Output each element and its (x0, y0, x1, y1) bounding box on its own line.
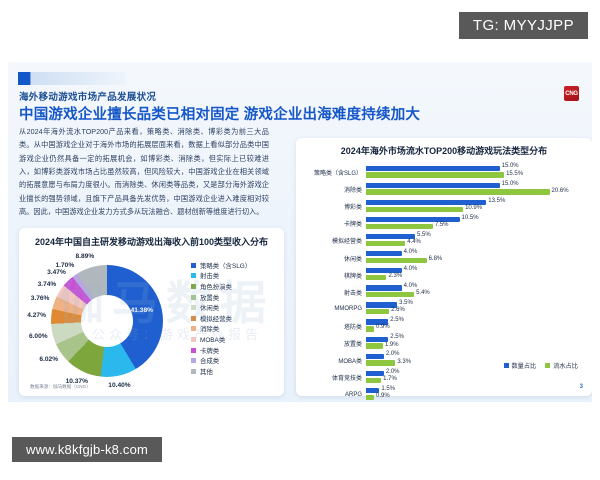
bar-segment-revenue (366, 360, 395, 365)
bar-value-label: 2.0% (386, 369, 400, 375)
cng-logo: CNG (564, 86, 579, 101)
bar-segment-revenue (366, 326, 374, 331)
pie-legend-label: 射击类 (200, 271, 219, 280)
pie-legend-item[interactable]: 卡牌类 (191, 345, 251, 356)
bar-value-label: 5.4% (416, 290, 430, 296)
bar-category-label: 博彩类 (302, 202, 366, 211)
bar-value-label: 4.0% (404, 249, 418, 255)
pie-legend-item[interactable]: 射击类 (191, 271, 251, 282)
bar-category-label: 棋牌类 (302, 271, 366, 280)
bar-value-label: 20.6% (552, 188, 569, 194)
pie-legend-label: 消除类 (200, 324, 219, 333)
bar-value-label: 10.5% (462, 215, 479, 221)
bar-segment-revenue (366, 378, 381, 383)
tg-watermark-badge: TG: MYYJJPP (459, 12, 588, 39)
bar-value-label: 2.5% (390, 317, 404, 323)
bar-segment-count (366, 371, 384, 376)
pie-slice-label: 1.70% (56, 262, 75, 269)
bar-value-label: 15.0% (502, 181, 519, 187)
bar-pair: 4.0%2.3% (366, 267, 586, 284)
pie-legend-item[interactable]: 休闲类 (191, 302, 251, 313)
pie-legend-item[interactable]: 消除类 (191, 324, 251, 335)
bar-row: 棋牌类4.0%2.3% (302, 267, 586, 284)
accent-bar (18, 72, 126, 85)
bar-row: 策略类（含SLG）15.0%15.5% (302, 164, 586, 181)
bar-pair: 2.5%0.9% (366, 318, 586, 335)
bar-category-label: 射击类 (302, 288, 366, 297)
legend-swatch-icon (191, 305, 196, 310)
pie-chart-card: 2024年中国自主研发移动游戏出海收入前100类型收入分布 41.38%10.4… (19, 228, 284, 396)
bar-value-label: 10.9% (465, 205, 482, 211)
pie-legend-item[interactable]: 角色扮演类 (191, 281, 251, 292)
bar-value-label: 13.5% (488, 198, 505, 204)
slide-eyebrow: 海外移动游戏市场产品发展状况 (19, 89, 156, 103)
legend-swatch-icon (191, 369, 196, 374)
bar-legend-item[interactable]: 流水占比 (545, 361, 578, 370)
bar-value-label: 2.3% (388, 273, 402, 279)
bar-chart-card: 2024年海外市场流水TOP200移动游戏玩法类型分布 策略类（含SLG）15.… (296, 138, 592, 396)
bar-category-label: ARPG (302, 392, 366, 398)
bar-segment-count (366, 183, 500, 188)
pie-legend: 策略类（含SLG）射击类角色扮演类放置类休闲类模拟经营类消除类MOBA类卡牌类合… (191, 260, 251, 377)
bar-segment-revenue (366, 241, 405, 246)
pie-legend-label: 休闲类 (200, 303, 219, 312)
bar-value-label: 7.5% (435, 222, 449, 228)
bar-segment-count (366, 251, 402, 256)
pie-slice-label: 8.89% (76, 253, 95, 260)
bar-value-label: 4.4% (407, 239, 421, 245)
legend-swatch-icon (191, 337, 196, 342)
bar-pair: 2.5%1.9% (366, 335, 586, 352)
bar-category-label: MOBA类 (302, 356, 366, 365)
pie-legend-item[interactable]: 模拟经营类 (191, 313, 251, 324)
bar-legend-item[interactable]: 数量占比 (504, 361, 537, 370)
bar-segment-revenue (366, 172, 504, 177)
body-paragraph: 从2024年海外流水TOP200产品来看，策略类、消除类、博彩类为前三大品类。从… (19, 125, 269, 218)
bar-category-label: 休闲类 (302, 254, 366, 263)
bar-chart-title: 2024年海外市场流水TOP200移动游戏玩法类型分布 (296, 145, 592, 158)
pie-legend-label: 角色扮演类 (200, 282, 232, 291)
bar-pair: 2.0%1.7% (366, 369, 586, 386)
bar-segment-revenue (366, 275, 386, 280)
pie-legend-label: 策略类（含SLG） (200, 261, 251, 270)
bar-category-label: 卡牌类 (302, 219, 366, 228)
bar-pair: 5.5%4.4% (366, 232, 586, 249)
bar-row: 消除类15.0%20.6% (302, 181, 586, 198)
bar-category-label: MMORPG (302, 306, 366, 312)
pie-legend-label: 卡牌类 (200, 346, 219, 355)
bar-value-label: 3.3% (397, 359, 411, 365)
pie-plot-area: 41.38%10.40%10.37%6.02%6.00%4.27%3.76%3.… (33, 262, 178, 380)
legend-swatch-icon (191, 273, 196, 278)
bar-segment-revenue (366, 207, 463, 212)
bar-category-label: 策略类（含SLG） (302, 168, 366, 177)
pie-legend-item[interactable]: MOBA类 (191, 334, 251, 345)
pie-slice-label: 10.40% (108, 382, 130, 389)
bar-pair: 4.0%6.8% (366, 249, 586, 266)
pie-chart-title: 2024年中国自主研发移动游戏出海收入前100类型收入分布 (19, 236, 284, 249)
bar-pair: 15.0%15.5% (366, 164, 586, 181)
accent-square (18, 72, 30, 85)
pie-legend-item[interactable]: 策略类（含SLG） (191, 260, 251, 271)
bar-row: 博彩类13.5%10.9% (302, 198, 586, 215)
bar-value-label: 1.9% (385, 342, 399, 348)
bar-value-label: 15.5% (506, 171, 523, 177)
bar-row: 卡牌类10.5%7.5% (302, 215, 586, 232)
bar-segment-revenue (366, 224, 433, 229)
bar-value-label: 0.9% (376, 393, 390, 399)
page-title: 中国游戏企业擅长品类已相对固定 游戏企业出海难度持续加大 (19, 103, 420, 124)
legend-swatch-icon (191, 263, 196, 268)
page-number: 3 (580, 384, 583, 390)
donut-chart (51, 265, 163, 377)
bar-row: 放置类2.5%1.9% (302, 335, 586, 352)
pie-legend-label: 放置类 (200, 293, 219, 302)
legend-swatch-icon (191, 348, 196, 353)
bar-segment-revenue (366, 189, 550, 194)
bar-value-label: 4.0% (404, 283, 418, 289)
bar-value-label: 2.0% (386, 351, 400, 357)
legend-swatch-icon (504, 363, 509, 368)
pie-slice-label: 3.74% (38, 281, 57, 288)
bar-value-label: 0.9% (376, 324, 390, 330)
bar-segment-count (366, 285, 402, 290)
pie-legend-item[interactable]: 合成类 (191, 355, 251, 366)
legend-swatch-icon (191, 284, 196, 289)
bar-pair: 4.0%5.4% (366, 284, 586, 301)
bar-row: 体育竞技类2.0%1.7% (302, 369, 586, 386)
bar-segment-count (366, 354, 384, 359)
bar-row: 模拟经营类5.5%4.4% (302, 232, 586, 249)
bar-row: MMORPG3.5%2.6% (302, 301, 586, 318)
bar-category-label: 模拟经营类 (302, 236, 366, 245)
pie-legend-item[interactable]: 放置类 (191, 292, 251, 303)
bar-legend-label: 流水占比 (553, 361, 578, 370)
bar-row: 休闲类4.0%6.8% (302, 249, 586, 266)
bar-category-label: 体育竞技类 (302, 373, 366, 382)
bar-category-label: 放置类 (302, 339, 366, 348)
pie-slice-label: 41.38% (131, 307, 153, 314)
bar-value-label: 2.5% (390, 334, 404, 340)
bar-segment-count (366, 166, 500, 171)
bar-segment-revenue (366, 292, 414, 297)
bar-row: 射击类4.0%5.4% (302, 284, 586, 301)
pie-legend-label: MOBA类 (200, 335, 225, 344)
pie-slice-label: 4.27% (27, 312, 46, 319)
bar-pair: 15.0%20.6% (366, 181, 586, 198)
url-watermark-badge: www.k8kfgjb-k8.com (12, 437, 162, 462)
bar-segment-revenue (366, 258, 427, 263)
slide-canvas: 海外移动游戏市场产品发展状况 中国游戏企业擅长品类已相对固定 游戏企业出海难度持… (8, 62, 592, 402)
bar-value-label: 3.5% (399, 300, 413, 306)
legend-swatch-icon (191, 358, 196, 363)
bar-segment-revenue (366, 309, 389, 314)
bar-value-label: 4.0% (404, 266, 418, 272)
pie-source-note: 数据来源：伽马数据（CNG） (30, 384, 91, 390)
bar-value-label: 6.8% (429, 256, 443, 262)
bar-segment-revenue (366, 343, 383, 348)
bar-legend-label: 数量占比 (512, 361, 537, 370)
legend-swatch-icon (191, 295, 196, 300)
bar-value-label: 5.5% (417, 232, 431, 238)
bar-legend: 数量占比流水占比 (504, 361, 579, 370)
bar-pair: 1.5%0.9% (366, 386, 586, 402)
pie-slice-label: 3.76% (31, 295, 50, 302)
pie-slice-label: 6.00% (29, 333, 48, 340)
bar-segment-revenue (366, 395, 374, 400)
bar-value-label: 15.0% (502, 163, 519, 169)
pie-legend-item[interactable]: 其他 (191, 366, 251, 377)
legend-swatch-icon (545, 363, 550, 368)
pie-slice-label: 6.02% (39, 356, 58, 363)
bar-category-label: 塔防类 (302, 322, 366, 331)
bar-pair: 10.5%7.5% (366, 215, 586, 232)
bar-row: 塔防类2.5%0.9% (302, 318, 586, 335)
pie-legend-label: 合成类 (200, 356, 219, 365)
pie-legend-label: 其他 (200, 367, 213, 376)
pie-legend-label: 模拟经营类 (200, 314, 232, 323)
pie-slice-label: 3.47% (47, 269, 66, 276)
bar-pair: 3.5%2.6% (366, 301, 586, 318)
bar-row: ARPG1.5%0.9% (302, 386, 586, 402)
bar-category-label: 消除类 (302, 185, 366, 194)
bar-pair: 13.5%10.9% (366, 198, 586, 215)
bar-value-label: 1.5% (381, 386, 395, 392)
legend-swatch-icon (191, 316, 196, 321)
bar-value-label: 1.7% (383, 376, 397, 382)
legend-swatch-icon (191, 326, 196, 331)
bar-value-label: 2.6% (391, 307, 405, 313)
